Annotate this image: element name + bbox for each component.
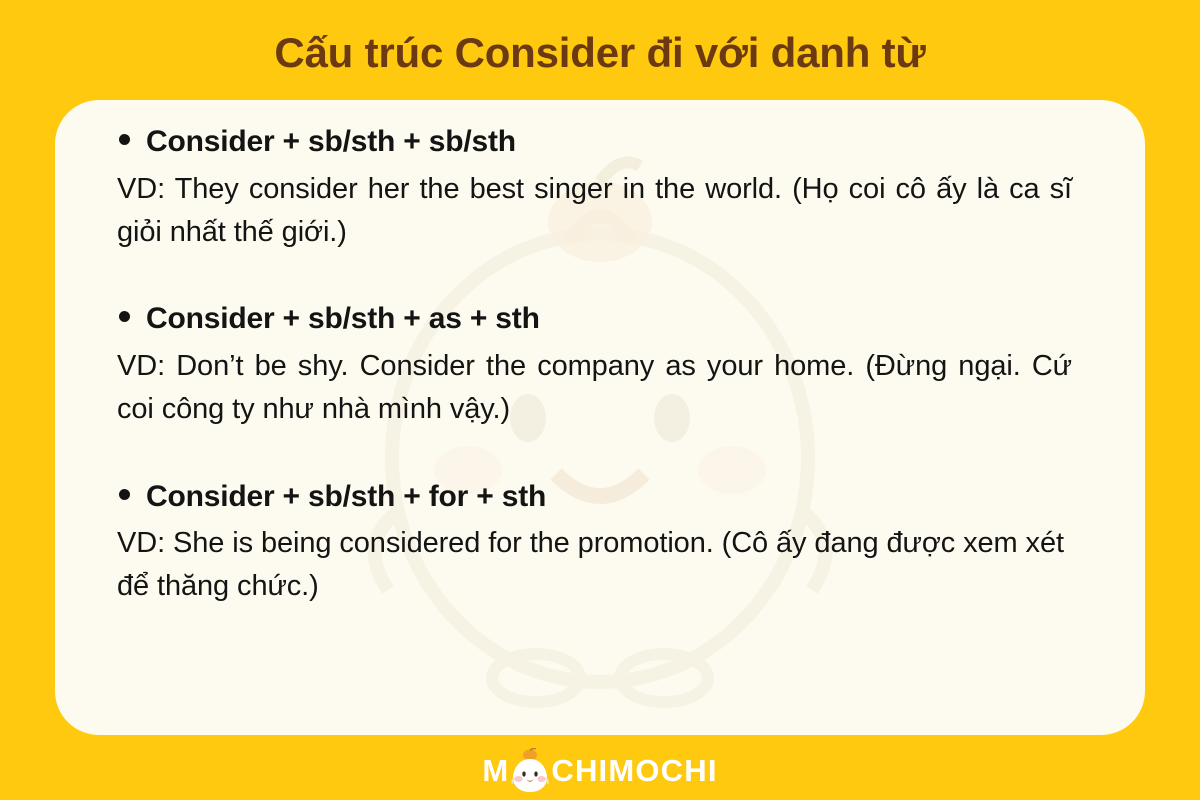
title-bar: Cấu trúc Consider đi với danh từ [0, 22, 1200, 84]
brand-logo-prefix: M [482, 755, 509, 786]
mochi-mascot-icon [510, 748, 550, 794]
structure-block: Consider + sb/sth + sb/sth VD: They cons… [115, 122, 1115, 253]
formula-row: Consider + sb/sth + for + sth [115, 477, 1115, 517]
content-card: Consider + sb/sth + sb/sth VD: They cons… [55, 100, 1145, 735]
card-content: Consider + sb/sth + sb/sth VD: They cons… [55, 100, 1145, 735]
structure-example: VD: They consider her the best singer in… [117, 168, 1072, 254]
formula-row: Consider + sb/sth + sb/sth [115, 122, 1115, 162]
structure-block: Consider + sb/sth + as + sth VD: Don’t b… [115, 299, 1115, 430]
structure-example: VD: She is being considered for the prom… [117, 522, 1072, 608]
brand-logo: M CHIMOCHI [0, 745, 1200, 795]
bullet-dot-icon [119, 134, 130, 145]
structure-formula: Consider + sb/sth + as + sth [146, 299, 540, 339]
brand-logo-suffix: CHIMOCHI [551, 755, 717, 786]
poster-page: Cấu trúc Consider đi với danh từ [0, 0, 1200, 800]
structure-formula: Consider + sb/sth + for + sth [146, 477, 546, 517]
bullet-dot-icon [119, 311, 130, 322]
structure-block: Consider + sb/sth + for + sth VD: She is… [115, 477, 1115, 608]
structure-example: VD: Don’t be shy. Consider the company a… [117, 345, 1072, 431]
formula-row: Consider + sb/sth + as + sth [115, 299, 1115, 339]
page-title: Cấu trúc Consider đi với danh từ [274, 29, 925, 77]
structure-formula: Consider + sb/sth + sb/sth [146, 122, 516, 162]
bullet-dot-icon [119, 489, 130, 500]
